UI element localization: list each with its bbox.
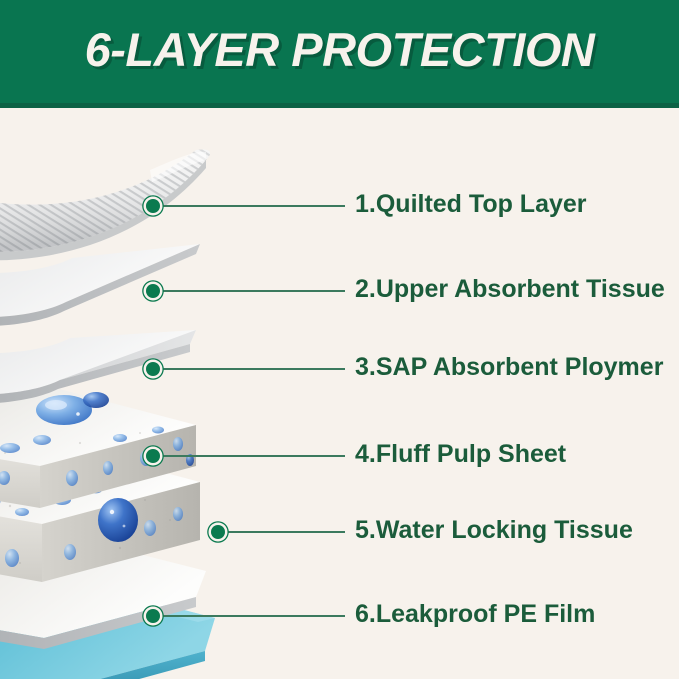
callout-4-line — [153, 455, 345, 457]
callout-5-dot[interactable] — [211, 525, 225, 539]
callout-1 — [153, 205, 345, 207]
callout-6 — [153, 615, 345, 617]
infographic-page: 6-LAYER PROTECTION — [0, 0, 679, 679]
callout-group: 1.Quilted Top Layer 2.Upper Absorbent Ti… — [0, 0, 679, 679]
callout-6-label: 6.Leakproof PE Film — [355, 602, 595, 627]
callout-5-label: 5.Water Locking Tissue — [355, 518, 633, 543]
callout-3-line — [153, 368, 345, 370]
callout-1-label: 1.Quilted Top Layer — [355, 192, 587, 217]
callout-1-dot[interactable] — [146, 199, 160, 213]
callout-6-dot[interactable] — [146, 609, 160, 623]
callout-3-dot[interactable] — [146, 362, 160, 376]
callout-4-label: 4.Fluff Pulp Sheet — [355, 442, 566, 467]
callout-2-dot[interactable] — [146, 284, 160, 298]
callout-2-label: 2.Upper Absorbent Tissue — [355, 277, 665, 302]
callout-4 — [153, 455, 345, 457]
callout-5 — [218, 531, 345, 533]
callout-3-label: 3.SAP Absorbent Ploymer — [355, 355, 663, 380]
callout-1-line — [153, 205, 345, 207]
callout-6-line — [153, 615, 345, 617]
callout-2-line — [153, 290, 345, 292]
callout-2 — [153, 290, 345, 292]
callout-4-dot[interactable] — [146, 449, 160, 463]
callout-3 — [153, 368, 345, 370]
callout-5-line — [218, 531, 345, 533]
